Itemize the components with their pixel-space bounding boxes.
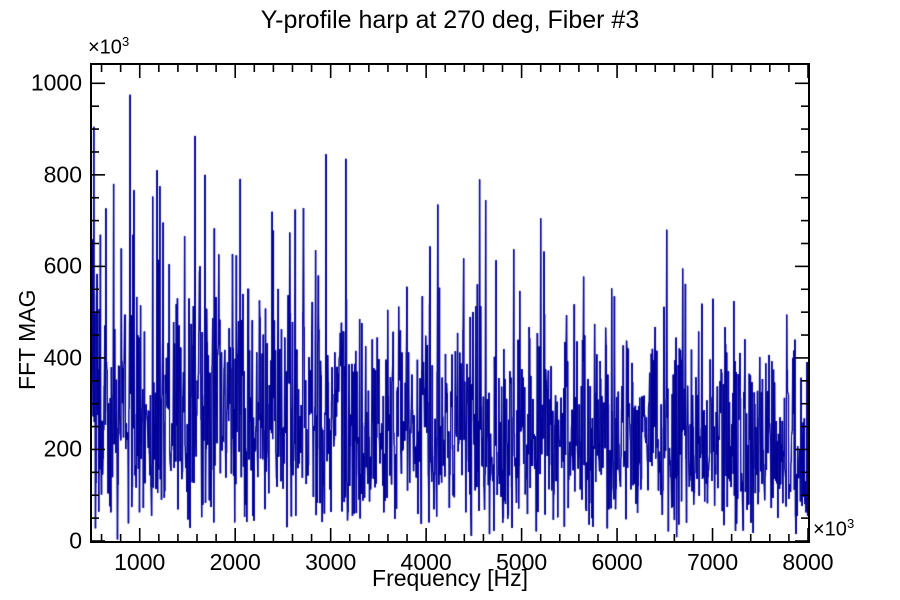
- x-axis-exponent-power: 3: [847, 516, 854, 531]
- chart-page: Y-profile harp at 270 deg, Fiber #3 ×103…: [0, 0, 900, 600]
- y-tick-label: 200: [0, 436, 82, 463]
- y-tick-label: 400: [0, 344, 82, 371]
- x-axis-exponent-base: ×10: [813, 519, 847, 541]
- y-axis-exponent-power: 3: [122, 34, 129, 49]
- y-axis-exponent-label: ×103: [88, 34, 129, 60]
- y-tick-label: 1000: [0, 70, 82, 97]
- fft-spectrum-plot: [92, 65, 808, 541]
- page-title: Y-profile harp at 270 deg, Fiber #3: [0, 6, 900, 35]
- x-axis-title: Frequency [Hz]: [0, 565, 900, 592]
- y-axis-title: FFT MAG: [14, 289, 41, 390]
- y-tick-label: 0: [0, 528, 82, 555]
- y-tick-label: 600: [0, 253, 82, 280]
- x-axis-exponent-label: ×103: [813, 516, 854, 542]
- plot-area: [90, 63, 810, 543]
- y-axis-exponent-base: ×10: [88, 37, 122, 59]
- y-tick-label: 800: [0, 161, 82, 188]
